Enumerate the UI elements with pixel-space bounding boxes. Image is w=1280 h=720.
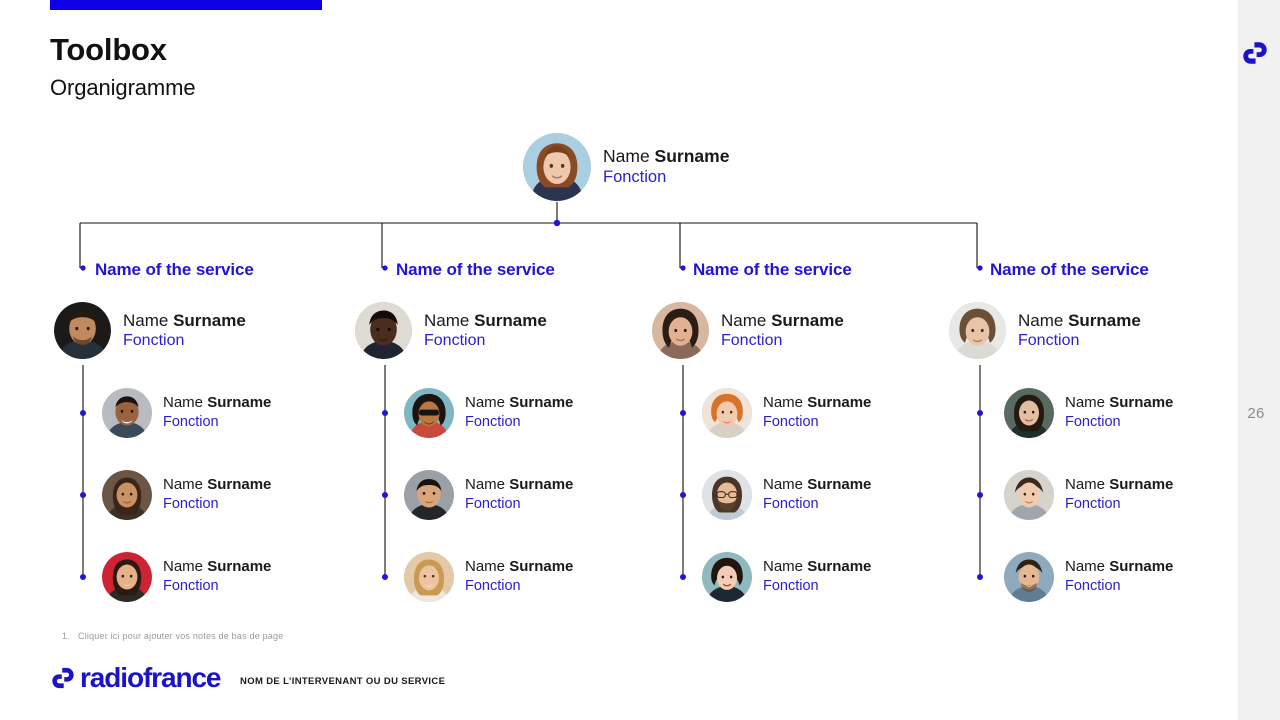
person-name: Name Surname [163,558,271,575]
page-number: 26 [1238,405,1274,422]
person-name: Name Surname [1065,558,1173,575]
person-function: Fonction [1065,496,1121,512]
org-node-member-3-2[interactable]: Name Surname Fonction [702,470,871,520]
person-text: Name Surname Fonction [163,558,271,596]
person-name: Name Surname [603,146,729,166]
person-name: Name Surname [763,476,871,493]
org-node-lead-3[interactable]: Name Surname Fonction [652,302,844,359]
avatar [1004,388,1054,438]
person-name: Name Surname [465,476,573,493]
org-chart-connectors [0,0,1233,720]
avatar [54,302,111,359]
radiofrance-logo-icon [50,665,76,691]
service-title-1: Name of the service [95,260,254,280]
speaker-label: NOM DE L’INTERVENANT OU DU SERVICE [240,676,445,687]
person-name: Name Surname [763,394,871,411]
person-text: Name Surname Fonction [763,558,871,596]
footnote-number: 1. [62,631,78,641]
org-node-member-3-3[interactable]: Name Surname Fonction [702,552,871,602]
org-node-member-2-3[interactable]: Name Surname Fonction [404,552,573,602]
person-text: Name Surname Fonction [763,394,871,432]
org-node-member-4-3[interactable]: Name Surname Fonction [1004,552,1173,602]
person-name: Name Surname [424,311,547,330]
brand-logo: radiofrance [50,664,220,692]
person-function: Fonction [465,578,521,594]
person-text: Name Surname Fonction [123,311,246,351]
person-function: Fonction [424,332,485,349]
person-text: Name Surname Fonction [424,311,547,351]
avatar [523,133,591,201]
person-text: Name Surname Fonction [1018,311,1141,351]
right-rail [1233,0,1280,720]
person-name: Name Surname [163,394,271,411]
avatar [102,388,152,438]
footnote-text: Cliquer ici pour ajouter vos notes de ba… [78,631,283,641]
person-function: Fonction [1018,332,1079,349]
slide: 26 Toolbox Organigramme [0,0,1280,720]
avatar [702,388,752,438]
avatar [652,302,709,359]
person-function: Fonction [603,168,666,186]
org-node-member-4-2[interactable]: Name Surname Fonction [1004,470,1173,520]
org-node-member-1-2[interactable]: Name Surname Fonction [102,470,271,520]
person-function: Fonction [163,496,219,512]
person-function: Fonction [763,496,819,512]
avatar [1004,470,1054,520]
person-name: Name Surname [721,311,844,330]
person-name: Name Surname [465,394,573,411]
person-name: Name Surname [1065,394,1173,411]
service-title-3: Name of the service [693,260,852,280]
avatar [355,302,412,359]
person-function: Fonction [763,578,819,594]
person-text: Name Surname Fonction [465,476,573,514]
org-node-member-2-2[interactable]: Name Surname Fonction [404,470,573,520]
person-name: Name Surname [1065,476,1173,493]
person-text: Name Surname Fonction [1065,558,1173,596]
avatar [949,302,1006,359]
service-title-4: Name of the service [990,260,1149,280]
person-name: Name Surname [763,558,871,575]
person-name: Name Surname [163,476,271,493]
person-function: Fonction [163,578,219,594]
person-text: Name Surname Fonction [721,311,844,351]
service-title-2: Name of the service [396,260,555,280]
radiofrance-logo-icon [1240,38,1270,68]
person-function: Fonction [163,414,219,430]
org-chart: Name Surname Fonction Name of the servic… [0,0,1233,720]
org-node-root[interactable]: Name Surname Fonction [523,133,729,201]
org-node-lead-2[interactable]: Name Surname Fonction [355,302,547,359]
person-text: Name Surname Fonction [465,558,573,596]
person-text: Name Surname Fonction [465,394,573,432]
avatar [404,388,454,438]
person-function: Fonction [465,414,521,430]
person-text: Name Surname Fonction [763,476,871,514]
person-function: Fonction [763,414,819,430]
person-name: Name Surname [1018,311,1141,330]
person-function: Fonction [1065,414,1121,430]
person-name: Name Surname [465,558,573,575]
footnote[interactable]: 1.Cliquer ici pour ajouter vos notes de … [62,631,283,641]
avatar [702,552,752,602]
person-name: Name Surname [123,311,246,330]
org-node-member-4-1[interactable]: Name Surname Fonction [1004,388,1173,438]
person-text: Name Surname Fonction [1065,394,1173,432]
avatar [102,552,152,602]
avatar [404,470,454,520]
person-function: Fonction [465,496,521,512]
org-node-member-3-1[interactable]: Name Surname Fonction [702,388,871,438]
person-function: Fonction [1065,578,1121,594]
person-text: Name Surname Fonction [603,146,729,188]
person-text: Name Surname Fonction [1065,476,1173,514]
person-function: Fonction [123,332,184,349]
avatar [102,470,152,520]
person-function: Fonction [721,332,782,349]
org-node-member-1-1[interactable]: Name Surname Fonction [102,388,271,438]
org-node-lead-1[interactable]: Name Surname Fonction [54,302,246,359]
person-text: Name Surname Fonction [163,476,271,514]
avatar [404,552,454,602]
org-node-member-1-3[interactable]: Name Surname Fonction [102,552,271,602]
person-text: Name Surname Fonction [163,394,271,432]
org-node-lead-4[interactable]: Name Surname Fonction [949,302,1141,359]
avatar [1004,552,1054,602]
avatar [702,470,752,520]
brand-name: radiofrance [80,664,220,692]
rail-gap-line [1233,0,1238,720]
org-node-member-2-1[interactable]: Name Surname Fonction [404,388,573,438]
